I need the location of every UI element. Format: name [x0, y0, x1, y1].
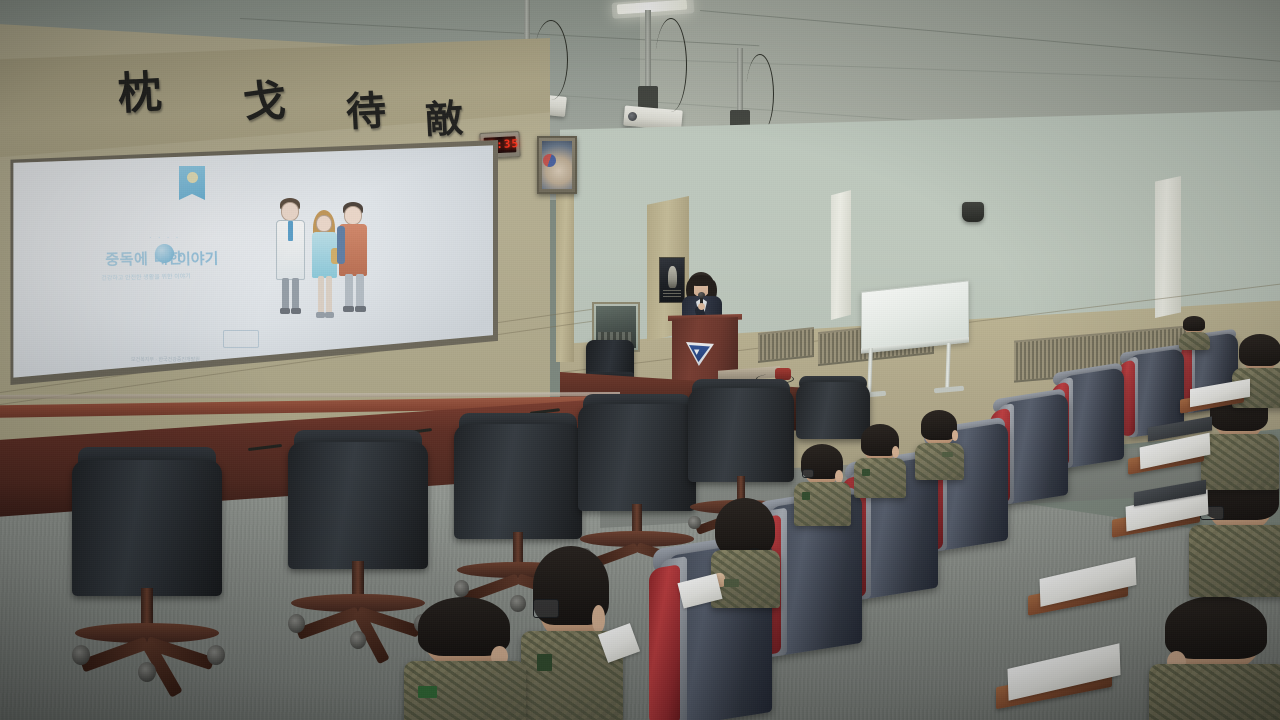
soldier-hair	[1239, 334, 1280, 366]
projector-cable	[655, 18, 687, 112]
unit-emblem-mark: ▼	[694, 348, 699, 356]
wall-radiator-center	[758, 327, 814, 363]
soldier-uniform	[1189, 525, 1280, 597]
chair-caster	[288, 614, 305, 632]
chair-back	[688, 388, 794, 482]
calligraphy-char-3: 待	[345, 91, 387, 133]
auditorium-seat-far-4[interactable]	[1002, 393, 1068, 505]
presenter-hand	[698, 303, 705, 310]
ceiling-projector-3-pole	[737, 48, 743, 112]
chair-back	[72, 460, 222, 596]
flag-emblem-icon	[543, 154, 556, 167]
soldier-patch	[802, 492, 811, 499]
projector-cable	[746, 54, 774, 134]
slide-ribbon-emblem-icon	[187, 172, 198, 183]
soldier-uniform	[1201, 434, 1279, 489]
chair-caster	[350, 631, 367, 649]
soldier-ear	[892, 446, 899, 457]
eyeglasses-icon	[802, 469, 814, 479]
chair-caster	[72, 645, 90, 665]
calligraphy-char-4: 敵	[424, 99, 464, 139]
slide-sparkle-icon: · · · ·	[149, 233, 183, 243]
soldier-patch	[418, 686, 437, 698]
office-chair-1[interactable]	[72, 460, 222, 680]
chair-caster	[688, 516, 701, 530]
slide-footer: 보건복지부 · 한국건강증진개발원	[131, 356, 200, 363]
soldier-uniform	[1179, 332, 1210, 350]
soldier-uniform	[794, 482, 851, 526]
chair-back	[578, 404, 696, 511]
chair-caster	[138, 662, 156, 682]
soldier-foreground-left	[412, 604, 516, 720]
soldier-patch	[537, 654, 552, 670]
chair-caster	[207, 645, 225, 665]
soldier-patch	[862, 469, 870, 476]
chair-back	[288, 442, 428, 569]
chair-back	[454, 424, 582, 539]
soldier-back-row	[1181, 318, 1207, 348]
slide-desk-doodle	[223, 330, 259, 348]
slide-character-doctor	[273, 198, 309, 322]
auditorium-seat-far-3[interactable]	[1062, 367, 1124, 469]
ceiling-projector-2-lens	[628, 112, 637, 121]
slide-character-student-male	[337, 202, 371, 324]
soldier-ear	[592, 605, 606, 633]
office-chair-2[interactable]	[288, 442, 428, 647]
slide-title-tail: 이야기	[177, 248, 219, 270]
ceiling-projector-2-pole	[645, 10, 651, 88]
soldier-ear	[835, 470, 843, 483]
calligraphy-char-1: 枕	[117, 71, 163, 117]
microphone-head-icon	[698, 292, 705, 298]
soldier-foreground-right	[1158, 604, 1274, 720]
soldier-row2-c	[798, 448, 846, 522]
soldier-ear	[952, 430, 959, 441]
soldier-row2-a	[918, 414, 960, 476]
brain-icon	[155, 244, 174, 263]
seat-cushion	[649, 565, 680, 720]
soldier-name-tape	[942, 452, 953, 457]
soldier-row2-b	[858, 428, 902, 494]
wall-column-white-1	[831, 190, 851, 320]
wall-column-wood-2	[556, 182, 574, 362]
eyeglasses-icon	[533, 599, 559, 619]
soldier-hair	[1165, 596, 1267, 658]
slide-subtitle: 건강하고 안전한 생활을 위한 이야기	[51, 270, 241, 283]
soldier-female-ponytail	[716, 506, 774, 602]
soldier-uniform	[1149, 664, 1280, 720]
soldier-hair	[1183, 316, 1206, 330]
wall-speaker	[962, 202, 984, 222]
auditorium-scene: 枕 戈 待 敵 10:35 · · · · 중독에 대한 이야기	[0, 0, 1280, 720]
framed-portrait	[537, 136, 577, 194]
soldier-uniform	[854, 458, 906, 498]
soldier-uniform	[915, 443, 965, 480]
soldier-name-tape	[724, 579, 739, 587]
calligraphy-char-2: 戈	[242, 80, 287, 125]
soldier-hair	[715, 498, 775, 558]
